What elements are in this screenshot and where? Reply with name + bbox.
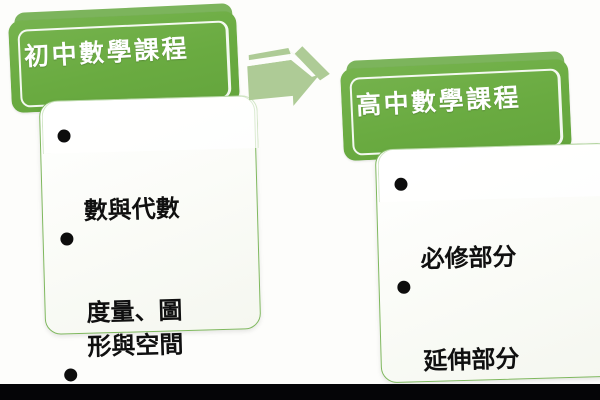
senior-secondary-card-group: 高中數學課程 必修部分 延伸部分 M2 [0, 0, 600, 400]
list-item-label: 延伸部分 [423, 344, 520, 376]
list-item-label: 必修部分 [420, 242, 517, 274]
bullet-dot-icon [397, 280, 410, 293]
bullet-dot-icon [394, 178, 407, 191]
bottom-letterbox-bar [0, 384, 600, 400]
right-card-bullet-list: 必修部分 延伸部分 M2 [394, 169, 600, 400]
slide-canvas: 初中數學課程 數與代數 度量、圖 形與空間 數據處理 [0, 0, 600, 400]
list-item[interactable]: 必修部分 [394, 169, 600, 277]
list-item[interactable]: 延伸部分 M2 [397, 271, 600, 400]
